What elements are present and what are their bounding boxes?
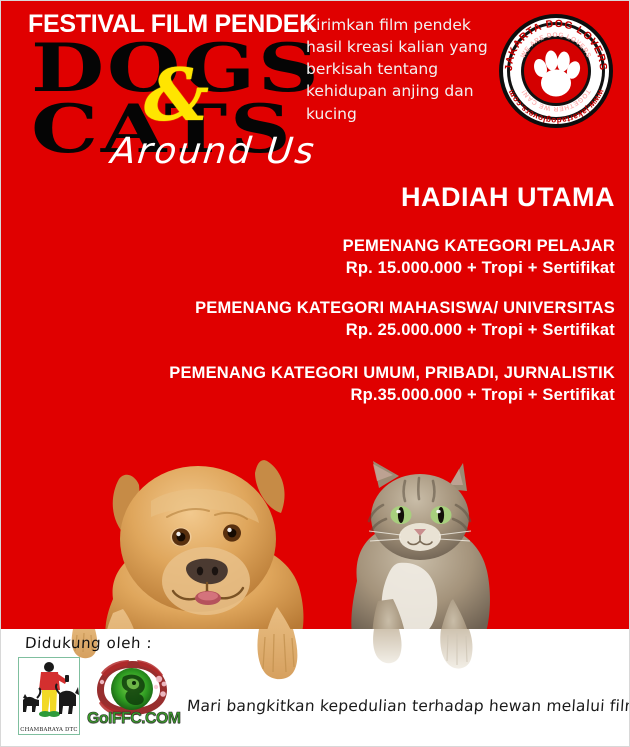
prize-category: PEMENANG KATEGORI UMUM, PRIBADI, JURNALI… — [1, 362, 615, 384]
prize-row: PEMENANG KATEGORI MAHASISWA/ UNIVERSITAS… — [1, 297, 615, 342]
prize-row: PEMENANG KATEGORI UMUM, PRIBADI, JURNALI… — [1, 362, 615, 407]
title-ampersand: & — [144, 59, 209, 131]
prize-row: PEMENANG KATEGORI PELAJAR Rp. 15.000.000… — [1, 235, 615, 280]
sponsor-name: GoIFFC.COM — [87, 710, 177, 728]
sponsor-logo-goiffc[interactable]: GoIFFC.COM — [87, 657, 177, 737]
intro-paragraph: Kirimkan film pendek hasil kreasi kalian… — [306, 14, 496, 125]
prize-heading: HADIAH UTAMA — [1, 182, 615, 213]
jakarta-dog-lovers-badge: JAKARTA DOG LOVERS www.jakartadoglovers.… — [498, 13, 614, 129]
poster-canvas: FESTIVAL FILM PENDEK DOGS CATS & Around … — [0, 0, 630, 747]
prize-category: PEMENANG KATEGORI PELAJAR — [1, 235, 615, 257]
prize-amount: Rp.35.000.000 + Tropi + Sertifikat — [1, 384, 615, 406]
footer-tagline: Mari bangkitkan kepedulian terhadap hewa… — [186, 697, 630, 715]
sponsor-logo-chambaraya[interactable]: CHAMBARAYA DTC — [18, 657, 80, 735]
sponsor-name: CHAMBARAYA DTC — [19, 727, 79, 733]
prize-amount: Rp. 25.000.000 + Tropi + Sertifikat — [1, 319, 615, 341]
prize-category: PEMENANG KATEGORI MAHASISWA/ UNIVERSITAS — [1, 297, 615, 319]
title-subtitle: Around Us — [109, 134, 317, 170]
supported-by-label: Didukung oleh : — [25, 634, 153, 652]
person-walking-dogs-icon — [19, 658, 79, 722]
prize-amount: Rp. 15.000.000 + Tropi + Sertifikat — [1, 257, 615, 279]
